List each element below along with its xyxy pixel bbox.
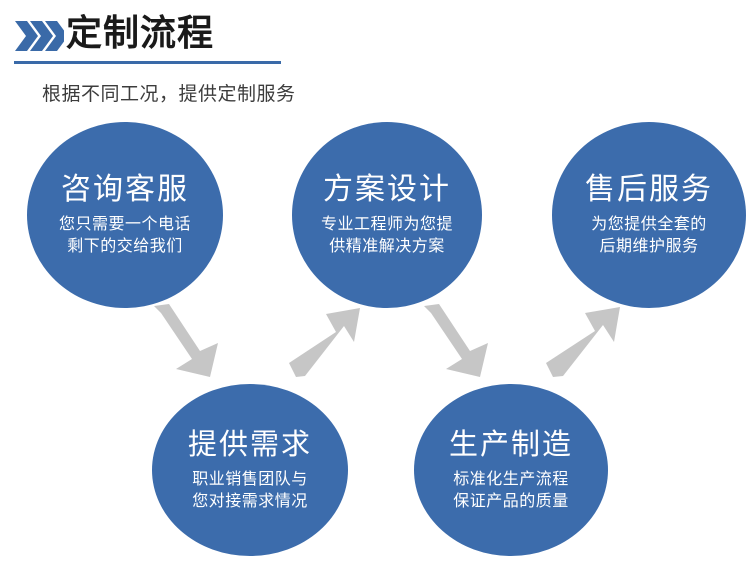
arrow-up-right-icon: [288, 300, 362, 380]
arrow-up-right-icon: [545, 298, 623, 380]
step-desc-line: 供精准解决方案: [329, 236, 445, 258]
custom-process-infographic: 定制流程 根据不同工况，提供定制服务 咨询客服 您只需要一个电话 剩下的交给我们…: [0, 0, 750, 576]
arrow-down-right-icon: [148, 303, 222, 379]
header: 定制流程 根据不同工况，提供定制服务: [0, 0, 750, 120]
process-step-design[interactable]: 方案设计 专业工程师为您提 供精准解决方案: [292, 122, 482, 308]
step-desc-line: 您只需要一个电话: [59, 214, 191, 236]
page-title: 定制流程: [66, 10, 214, 56]
step-title: 方案设计: [323, 172, 451, 208]
process-step-manufacturing[interactable]: 生产制造 标准化生产流程 保证产品的质量: [414, 384, 608, 556]
process-step-after-sales[interactable]: 售后服务 为您提供全套的 后期维护服务: [552, 122, 746, 308]
triple-chevron-right-icon: [14, 19, 64, 53]
step-title: 咨询客服: [61, 172, 189, 208]
process-step-consultation[interactable]: 咨询客服 您只需要一个电话 剩下的交给我们: [27, 122, 223, 308]
step-desc-line: 后期维护服务: [599, 236, 698, 258]
page-subtitle: 根据不同工况，提供定制服务: [42, 79, 296, 106]
step-desc-line: 专业工程师为您提: [321, 214, 453, 236]
step-title: 提供需求: [188, 427, 312, 463]
arrow-down-right-icon: [418, 303, 492, 379]
step-desc-line: 为您提供全套的: [591, 214, 707, 236]
step-desc-line: 职业销售团队与: [192, 469, 308, 491]
step-desc-line: 标准化生产流程: [453, 469, 569, 491]
step-desc-line: 您对接需求情况: [192, 491, 308, 513]
step-desc-line: 保证产品的质量: [453, 491, 569, 513]
process-step-requirements[interactable]: 提供需求 职业销售团队与 您对接需求情况: [152, 384, 348, 556]
step-title: 售后服务: [585, 172, 713, 208]
step-title: 生产制造: [449, 427, 573, 463]
step-desc-line: 剩下的交给我们: [67, 236, 183, 258]
title-underline: [14, 61, 281, 64]
